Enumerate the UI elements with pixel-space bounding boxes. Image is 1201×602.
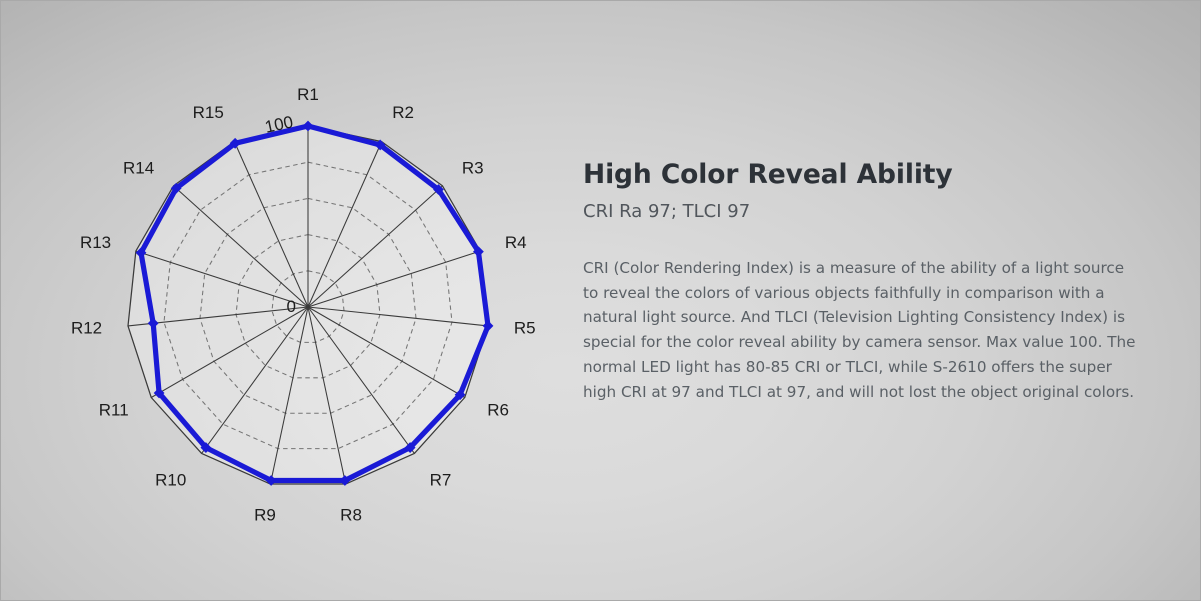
radar-tick-label-0: 0 [287,297,296,316]
radar-axis-label-R1: R1 [297,85,319,104]
radar-axis-label-R9: R9 [254,505,276,524]
radar-chart-panel: R1R2R3R4R5R6R7R8R9R10R11R12R13R14R15 010… [1,1,577,602]
radar-axis-label-R15: R15 [193,103,224,122]
page-title: High Color Reveal Ability [583,159,1143,190]
radar-axis-label-R14: R14 [123,158,154,177]
description-panel: High Color Reveal Ability CRI Ra 97; TLC… [583,159,1143,404]
radar-chart: R1R2R3R4R5R6R7R8R9R10R11R12R13R14R15 010… [1,1,577,602]
radar-axis-label-R4: R4 [505,233,527,252]
radar-axis-label-R3: R3 [462,158,484,177]
radar-axis-label-R5: R5 [514,319,536,338]
promo-slide: R1R2R3R4R5R6R7R8R9R10R11R12R13R14R15 010… [0,0,1201,601]
body-paragraph: CRI (Color Rendering Index) is a measure… [583,256,1139,405]
radar-axis-label-R8: R8 [340,505,362,524]
radar-axis-label-R7: R7 [430,470,452,489]
radar-axis-label-R2: R2 [392,103,414,122]
radar-axis-label-R12: R12 [71,319,102,338]
radar-axis-label-R10: R10 [155,470,186,489]
radar-axis-label-R13: R13 [80,233,111,252]
radar-axis-label-R6: R6 [487,401,509,420]
radar-axis-label-R11: R11 [99,401,129,420]
page-subtitle: CRI Ra 97; TLCI 97 [583,201,1143,223]
